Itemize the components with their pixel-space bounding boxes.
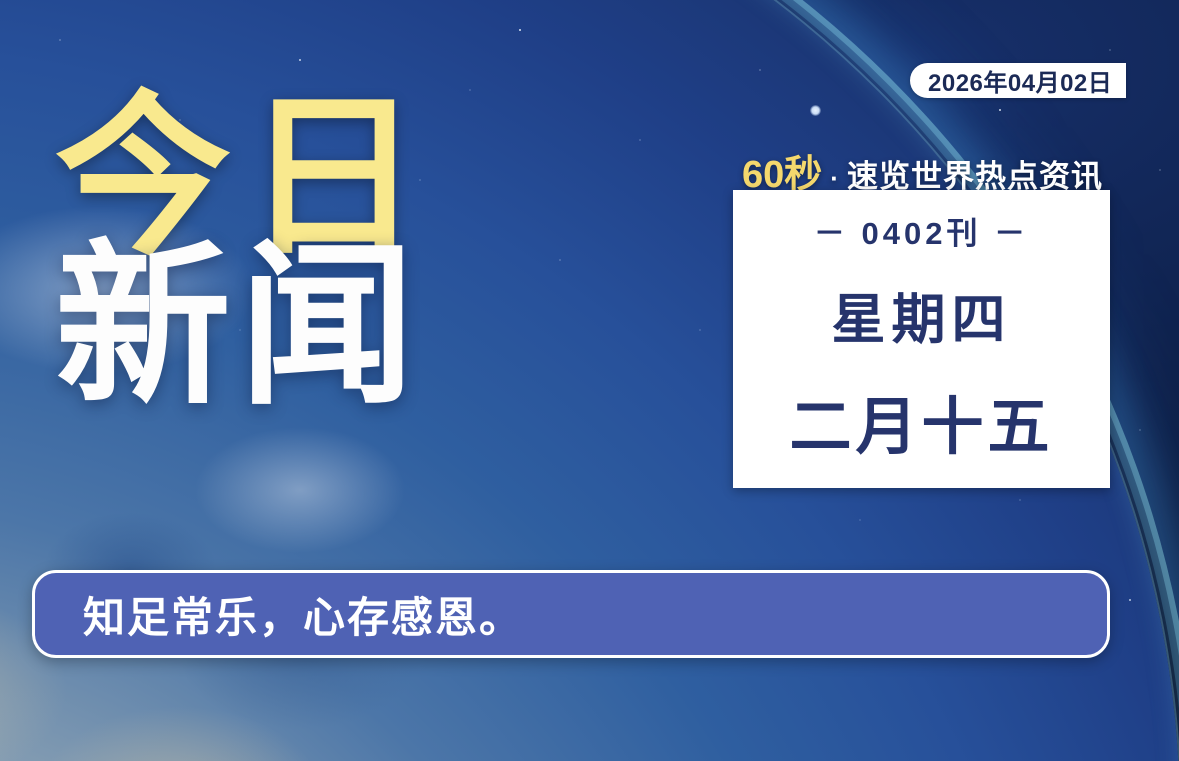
quote-banner: 知足常乐，心存感恩。 (32, 570, 1110, 658)
date-pill-label: 2026年04月02日 (928, 63, 1112, 98)
title-line-news: 新闻 (55, 244, 435, 411)
issue-info-card: － 0402刊 － 星期四 二月十五 (733, 190, 1110, 488)
lunar-date-label: 二月十五 (789, 376, 1053, 466)
bright-star-icon (810, 105, 821, 116)
weekday-label: 星期四 (832, 275, 1012, 354)
issue-number: － 0402刊 － (814, 208, 1029, 253)
quote-text: 知足常乐，心存感恩。 (83, 584, 523, 645)
date-pill: 2026年04月02日 (910, 63, 1126, 98)
news-poster: 2026年04月02日 今日 新闻 60秒 · 速览世界热点资讯 － 0402刊… (0, 0, 1179, 761)
poster-title: 今日 新闻 (55, 95, 435, 411)
